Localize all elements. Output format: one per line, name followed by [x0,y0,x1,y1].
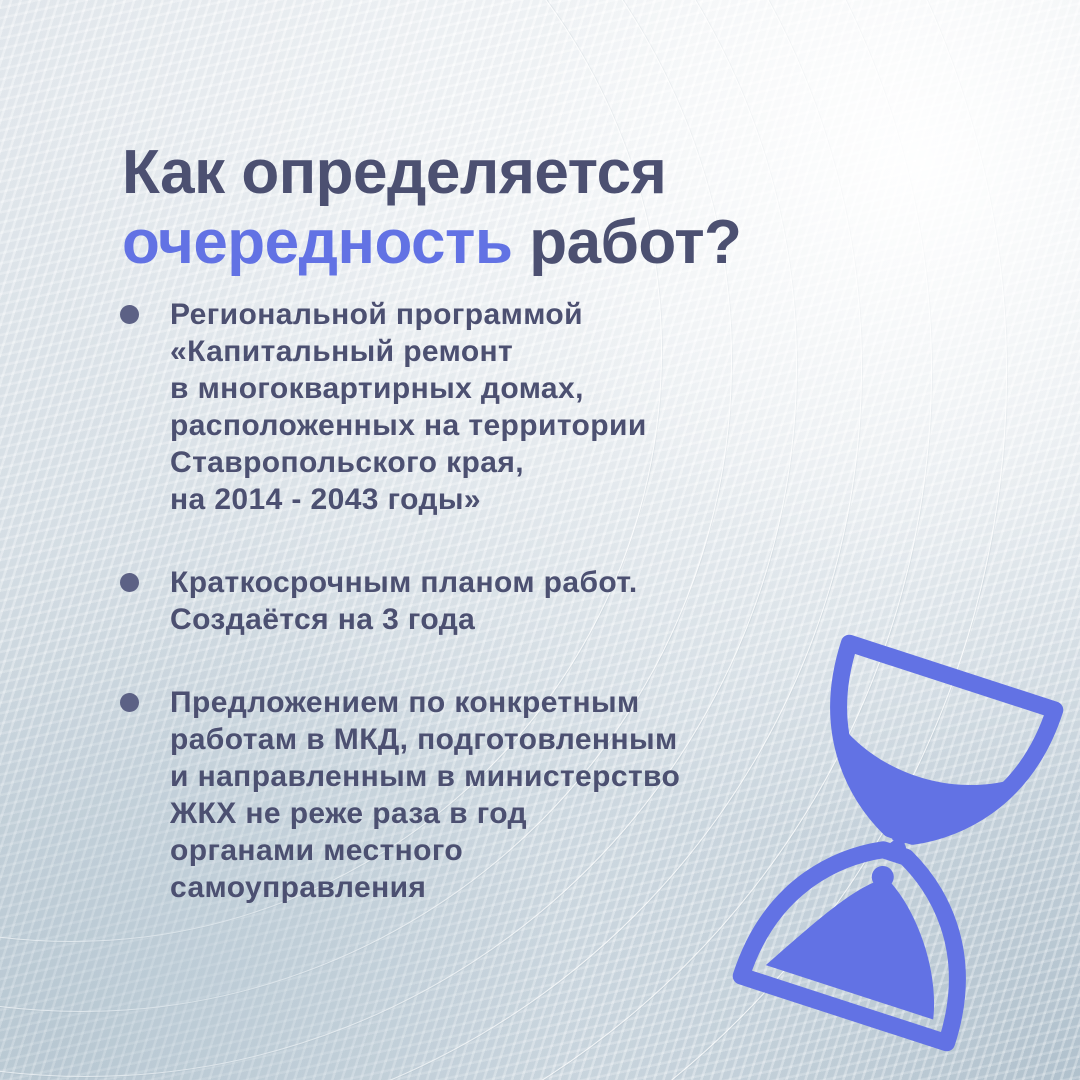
list-item: Предложением по конкретным работам в МКД… [118,684,908,906]
page-title-line-2-rest: работ? [512,208,741,277]
list-item: Региональной программой «Капитальный рем… [118,296,908,518]
page-title: Как определяется очередность работ? [122,138,942,278]
bullet-dot-icon [120,693,139,712]
bullet-dot-icon [120,573,139,592]
list-item: Краткосрочным планом работ. Создаётся на… [118,564,908,638]
bullet-list: Региональной программой «Капитальный рем… [118,296,908,906]
page-title-accent-word: очередность [122,208,512,277]
page-title-line-1: Как определяется [122,138,666,207]
slide-canvas: Как определяется очередность работ? Реги… [0,0,1080,1080]
bullet-dot-icon [120,305,139,324]
bullet-text-regional-program: Региональной программой «Капитальный рем… [170,296,908,518]
bullet-text-short-term-plan: Краткосрочным планом работ. Создаётся на… [170,564,908,638]
bullet-text-local-government-proposal: Предложением по конкретным работам в МКД… [170,684,908,906]
